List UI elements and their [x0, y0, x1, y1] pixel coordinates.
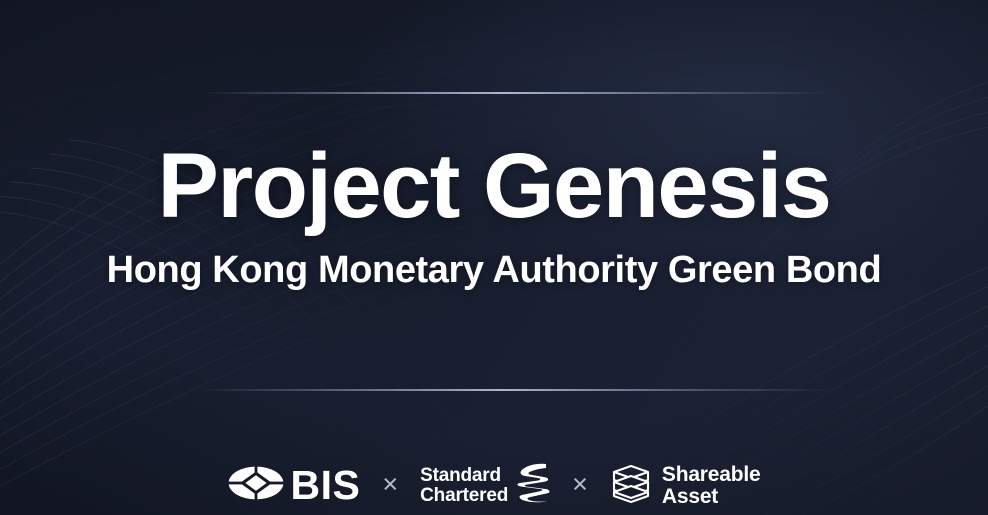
divider-bottom [200, 389, 830, 391]
sa-line-2: Asset [662, 486, 761, 507]
title-block: Project Genesis Hong Kong Monetary Autho… [0, 138, 988, 292]
bis-ellipse-diamond-icon [228, 466, 284, 505]
shareable-asset-chevron-icon [610, 462, 652, 509]
page-title: Project Genesis [0, 138, 988, 235]
title-slide: Project Genesis Hong Kong Monetary Autho… [0, 0, 988, 515]
standard-chartered-wordmark: Standard Chartered [420, 466, 508, 505]
partner-separator-2: × [572, 471, 588, 500]
sa-line-1: Shareable [662, 464, 761, 485]
partner-logo-row: BIS × Standard Chartered × [0, 462, 988, 509]
logo-bis: BIS [228, 465, 361, 506]
shareable-asset-wordmark: Shareable Asset [662, 464, 761, 507]
logo-shareable-asset: Shareable Asset [610, 462, 761, 509]
slide-content: Project Genesis Hong Kong Monetary Autho… [0, 0, 988, 515]
partner-separator-1: × [382, 471, 398, 500]
sc-line-2: Chartered [420, 486, 508, 505]
standard-chartered-ribbon-icon [516, 462, 550, 509]
sc-line-1: Standard [420, 466, 508, 485]
page-subtitle: Hong Kong Monetary Authority Green Bond [0, 249, 988, 292]
divider-top [200, 92, 830, 94]
logo-standard-chartered: Standard Chartered [420, 462, 550, 509]
bis-wordmark: BIS [291, 465, 361, 506]
